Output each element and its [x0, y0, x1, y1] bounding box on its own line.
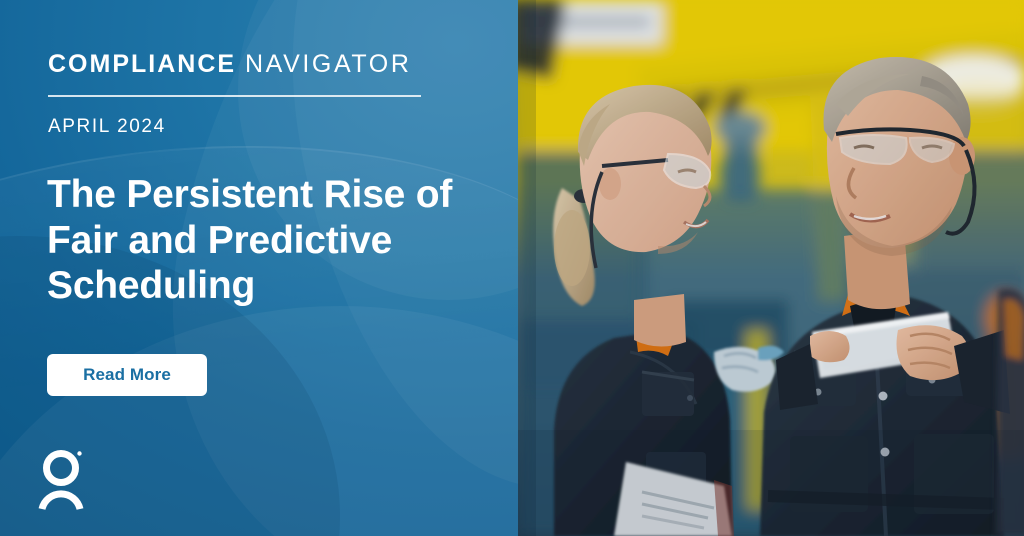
compliance-navigator-banner: COMPLIANCE NAVIGATOR APRIL 2024 The Pers…: [0, 0, 1024, 536]
left-content-panel: COMPLIANCE NAVIGATOR APRIL 2024 The Pers…: [0, 0, 518, 536]
kicker-bold-word: COMPLIANCE: [48, 50, 236, 78]
read-more-button[interactable]: Read More: [47, 354, 207, 396]
panel-content: COMPLIANCE NAVIGATOR APRIL 2024 The Pers…: [0, 0, 518, 536]
kicker-divider-rule: [48, 95, 421, 97]
hero-photo: [518, 0, 1024, 536]
publication-kicker: COMPLIANCE NAVIGATOR: [48, 52, 412, 77]
ukg-person-logo: [38, 449, 98, 511]
kicker-light-word: NAVIGATOR: [245, 50, 411, 78]
issue-date: APRIL 2024: [48, 117, 166, 136]
page-title: The Persistent Rise of Fair and Predicti…: [47, 172, 487, 309]
